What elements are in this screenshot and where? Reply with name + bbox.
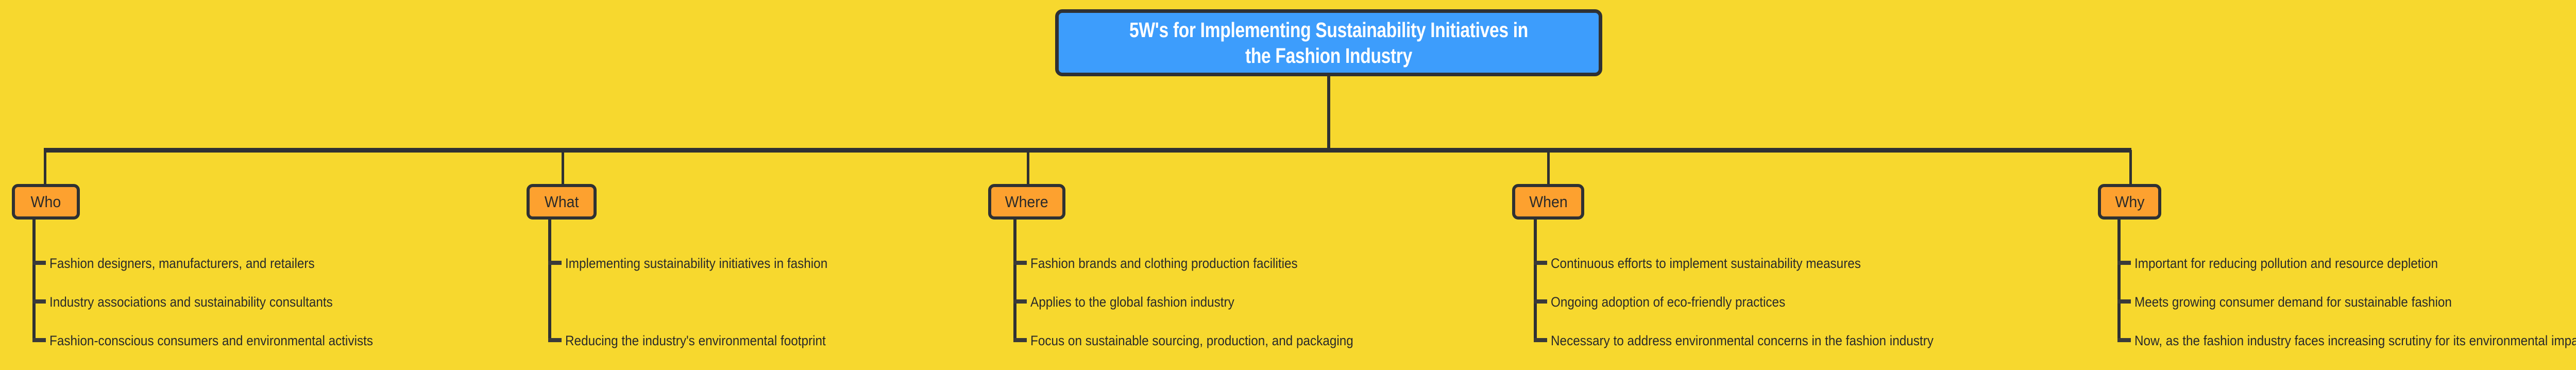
branch-label-where: Where — [1005, 193, 1048, 211]
branch-spine-when — [1534, 220, 1537, 342]
leaf-item-who-2[interactable]: Industry associations and sustainability… — [49, 295, 333, 309]
leaf-tick-when-1 — [1534, 261, 1547, 265]
branch-node-when[interactable]: When — [1512, 184, 1584, 220]
leaf-item-why-1[interactable]: Important for reducing pollution and res… — [2134, 257, 2438, 271]
leaf-tick-who-1 — [32, 261, 46, 265]
leaf-tick-when-2 — [1534, 299, 1547, 304]
leaf-tick-who-2 — [32, 299, 46, 304]
leaf-item-why-3[interactable]: Now, as the fashion industry faces incre… — [2134, 334, 2576, 348]
branch-spine-what — [548, 220, 551, 342]
root-title: 5W's for Implementing Sustainability Ini… — [1107, 17, 1550, 69]
trunk-connector-line — [1327, 76, 1330, 151]
leaf-item-who-1[interactable]: Fashion designers, manufacturers, and re… — [49, 257, 315, 271]
branch-drop-line-who — [44, 150, 46, 185]
leaf-item-when-1[interactable]: Continuous efforts to implement sustaina… — [1551, 257, 1861, 271]
branch-label-when: When — [1529, 193, 1568, 211]
leaf-tick-when-3 — [1534, 338, 1547, 342]
leaf-tick-where-3 — [1013, 338, 1027, 342]
leaf-tick-what-1 — [548, 261, 562, 265]
mindmap-canvas: 5W's for Implementing Sustainability Ini… — [0, 0, 2576, 370]
root-node[interactable]: 5W's for Implementing Sustainability Ini… — [1055, 9, 1602, 76]
branch-label-who: Who — [31, 193, 61, 211]
branch-drop-line-why — [2129, 150, 2132, 185]
leaf-tick-why-2 — [2117, 299, 2131, 304]
leaf-tick-why-3 — [2117, 338, 2131, 342]
leaf-item-where-1[interactable]: Fashion brands and clothing production f… — [1030, 257, 1298, 271]
branch-label-what: What — [545, 193, 579, 211]
leaf-item-who-3[interactable]: Fashion-conscious consumers and environm… — [49, 334, 373, 348]
branch-label-why: Why — [2115, 193, 2144, 211]
branch-spine-where — [1013, 220, 1016, 342]
leaf-tick-who-3 — [32, 338, 46, 342]
branch-node-where[interactable]: Where — [988, 184, 1065, 220]
horizontal-bus-line — [44, 148, 2131, 153]
leaf-tick-where-2 — [1013, 299, 1027, 304]
branch-node-what[interactable]: What — [527, 184, 597, 220]
branch-drop-line-where — [1027, 150, 1029, 185]
leaf-item-when-2[interactable]: Ongoing adoption of eco-friendly practic… — [1551, 295, 1785, 309]
leaf-item-what-2[interactable]: Reducing the industry's environmental fo… — [565, 334, 826, 348]
leaf-item-when-3[interactable]: Necessary to address environmental conce… — [1551, 334, 1934, 348]
branch-node-why[interactable]: Why — [2098, 184, 2161, 220]
leaf-tick-where-1 — [1013, 261, 1027, 265]
leaf-tick-what-2 — [548, 338, 562, 342]
branch-drop-line-when — [1547, 150, 1550, 185]
leaf-item-where-3[interactable]: Focus on sustainable sourcing, productio… — [1030, 334, 1353, 348]
leaf-tick-why-1 — [2117, 261, 2131, 265]
branch-spine-who — [32, 220, 36, 342]
branch-spine-why — [2117, 220, 2121, 342]
leaf-item-why-2[interactable]: Meets growing consumer demand for sustai… — [2134, 295, 2452, 309]
branch-node-who[interactable]: Who — [12, 184, 80, 220]
leaf-item-what-1[interactable]: Implementing sustainability initiatives … — [565, 257, 827, 271]
branch-drop-line-what — [562, 150, 564, 185]
leaf-item-where-2[interactable]: Applies to the global fashion industry — [1030, 295, 1234, 309]
